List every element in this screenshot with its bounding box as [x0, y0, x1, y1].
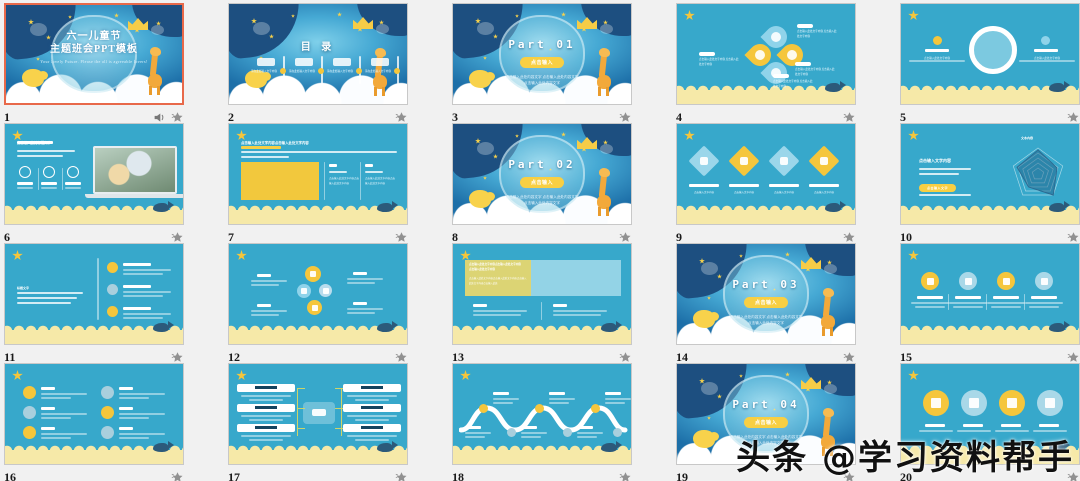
bubble-icon	[477, 142, 494, 155]
sand-strip	[453, 450, 631, 464]
diamond-sub: 点击输入文字内容	[809, 190, 839, 194]
diamond-sub: 点击输入文字内容	[689, 190, 719, 194]
left-body-line	[17, 292, 83, 294]
slide-thumbnail-7[interactable]: 点击输入此处文字内容点击输入此处文字内容点击输入此处文字内容点击输入此处文字内容…	[228, 123, 408, 225]
social-line	[347, 308, 383, 310]
star-animation-icon[interactable]	[843, 351, 856, 364]
part-description: 点击输入此处内容文字 点击输入此处内容文字 点击输入此处内容文字	[677, 314, 855, 326]
petal-body: 点击输入此处文字内容 点击输入此处文字内容	[795, 68, 835, 77]
body-line	[919, 194, 971, 196]
duck-icon	[22, 69, 44, 87]
slide-cell: 点击输入此处标题文字6	[4, 123, 184, 247]
laptop-photo	[93, 146, 177, 194]
col-body-line	[41, 433, 87, 435]
row-body-line	[915, 306, 945, 308]
row-body-line	[1025, 302, 1063, 304]
body-line	[919, 173, 959, 175]
slide-cell: 点击输入此处文字内容点击输入此处文字内容5	[900, 3, 1080, 127]
col-heading-bar	[41, 407, 55, 410]
slide-number: 19	[676, 470, 688, 481]
star-animation-icon[interactable]	[619, 471, 632, 481]
slide-thumbnail-4[interactable]: 点击输入此处文字内容 点击输入此处文字内容点击输入此处文字内容 点击输入此处文字…	[676, 3, 856, 105]
col-body-line	[41, 413, 87, 415]
social-line	[251, 280, 287, 282]
spoke-line	[347, 435, 397, 437]
slide-status-icons	[171, 231, 184, 244]
column-divider	[360, 162, 361, 200]
slide-number: 17	[228, 470, 240, 481]
wave-top-line	[549, 398, 575, 400]
col-line	[553, 310, 607, 312]
part-description: 点击输入此处内容文字 点击输入此处内容文字 点击输入此处内容文字	[453, 194, 631, 206]
item-sub-line	[41, 187, 57, 189]
speaker-icon[interactable]	[153, 111, 166, 124]
row-body-line	[987, 302, 1025, 304]
wave-top-line	[493, 402, 513, 404]
slide-sorter-pane[interactable]: 六一儿童节主题班会PPT模板Your lovely Future. Please…	[0, 0, 1080, 481]
slide-thumbnail-1[interactable]: 六一儿童节主题班会PPT模板Your lovely Future. Please…	[4, 3, 184, 105]
col-body-line	[119, 437, 149, 439]
heading-underline	[241, 146, 281, 149]
col-heading-bar	[119, 407, 133, 410]
sand-strip	[901, 90, 1079, 104]
slide-thumbnail-2[interactable]: 目 录请在此处输入文字内容请在此处输入文字内容请在此处输入文字内容请在此处输入文…	[228, 3, 408, 105]
big-icon-label-bar	[925, 424, 945, 427]
diamond-glyph	[820, 157, 828, 165]
diamond-label-bar	[809, 184, 839, 187]
spoke-heading-bar	[361, 426, 383, 429]
sand-strip	[5, 210, 183, 224]
list-heading-bar	[123, 263, 151, 266]
slide-meta: 16	[4, 467, 184, 481]
slide-status-icons	[1067, 231, 1080, 244]
petal-badge	[797, 24, 813, 28]
social-glyph	[310, 271, 316, 277]
slide-status-icons	[1067, 111, 1080, 124]
row-icon-glyph	[965, 278, 972, 285]
whale-icon	[601, 443, 617, 452]
slide-thumbnail-17[interactable]	[228, 363, 408, 465]
row-label-bar	[917, 296, 943, 299]
spoke-line	[355, 419, 389, 421]
col-circle	[101, 406, 114, 419]
left-body-line	[17, 297, 77, 299]
sand-strip	[5, 450, 183, 464]
col-line	[553, 314, 601, 316]
big-icon-line	[1033, 430, 1067, 432]
social-line	[347, 282, 375, 284]
body-line	[17, 150, 75, 152]
star-animation-icon[interactable]	[171, 351, 184, 364]
bubble-icon	[824, 384, 837, 394]
list-bullet	[107, 284, 118, 295]
whale-icon	[825, 203, 841, 212]
star-animation-icon[interactable]	[395, 231, 408, 244]
col-heading-bar	[553, 304, 567, 307]
radar-chart	[1005, 142, 1071, 204]
star-animation-icon[interactable]	[1067, 111, 1080, 124]
spoke-heading-bar	[255, 406, 277, 409]
wave-bottom-label	[465, 426, 481, 429]
slide-cell: 点击输入此处文字内容点击输入此处文字内容点击输入此处文字内容点击输入此处文字内容…	[228, 123, 408, 247]
social-glyph	[312, 305, 318, 311]
row-body-line	[1029, 306, 1059, 308]
slide-thumbnail-12[interactable]	[228, 243, 408, 345]
spoke-line	[355, 399, 389, 401]
slide-cell: 12	[228, 243, 408, 367]
slide-status-icons	[395, 111, 408, 124]
diamond-label-bar	[689, 184, 719, 187]
list-line	[123, 313, 171, 315]
spoke-line	[355, 439, 389, 441]
slide-cell: 17	[228, 363, 408, 481]
spoke-line	[249, 399, 283, 401]
wave-node	[535, 404, 544, 413]
slide-thumbnail-16[interactable]	[4, 363, 184, 465]
part-button: 点击输入	[520, 177, 564, 188]
wave-bottom-line	[521, 432, 547, 434]
list-line	[123, 291, 171, 293]
slide-status-icons	[395, 471, 408, 481]
bubble-icon	[701, 262, 718, 275]
bubble-icon	[600, 24, 613, 34]
big-icon-label-bar	[963, 424, 983, 427]
wave-top-label	[605, 392, 621, 395]
star-animation-icon[interactable]	[619, 231, 632, 244]
whale-icon	[1049, 323, 1065, 332]
body-line	[17, 155, 63, 157]
sand-strip	[677, 90, 855, 104]
slide-thumbnail-10[interactable]: 点击输入文字内容点击输入文字文本内容	[900, 123, 1080, 225]
col-circle	[23, 426, 36, 439]
sand-strip	[5, 330, 183, 344]
slide-status-icons	[843, 351, 856, 364]
col-circle	[23, 406, 36, 419]
wave-top-line	[605, 398, 631, 400]
item-label-bar	[65, 182, 81, 185]
left-body-line	[17, 302, 71, 304]
row-icon-glyph	[1041, 278, 1048, 285]
item-label-bar	[17, 182, 33, 185]
bubble-icon	[701, 382, 718, 395]
diamond-sub: 点击输入文字内容	[729, 190, 759, 194]
photo-classroom	[95, 148, 175, 192]
social-glyph	[323, 288, 329, 294]
slide-thumbnail-15[interactable]	[900, 243, 1080, 345]
left-heading-bar	[925, 49, 949, 52]
slide-status-icons	[395, 351, 408, 364]
big-icon-glyph	[969, 398, 979, 408]
whale-icon	[601, 323, 617, 332]
whale-icon	[825, 83, 841, 92]
wave-bottom-line	[577, 432, 603, 434]
slide-heading: 点击输入此处文字内容点击输入此处文字内容	[241, 140, 309, 145]
toc-title: 目 录	[229, 38, 407, 53]
sand-strip	[453, 330, 631, 344]
slide-status-icons	[843, 231, 856, 244]
bubble-icon	[253, 22, 270, 35]
social-line	[251, 310, 287, 312]
spoke-line	[347, 395, 397, 397]
col-heading-bar	[41, 387, 55, 390]
big-circle-outer	[969, 26, 1017, 74]
whale-icon	[377, 203, 393, 212]
social-line	[251, 284, 279, 286]
star-animation-icon[interactable]	[1067, 231, 1080, 244]
panel-body: 点击输入此处文字内容点击输入此处文字内容点击输入此处文字内容点击输入此处	[469, 277, 527, 286]
right-heading-bar	[1034, 49, 1058, 52]
wave-bottom-line	[521, 436, 541, 438]
spoke-connector	[297, 428, 305, 429]
part-block: Part 01点击输入点击输入此处内容文字 点击输入此处内容文字 点击输入此处内…	[453, 38, 631, 86]
social-label-bar	[257, 274, 271, 277]
row-icon-glyph	[927, 278, 934, 285]
slide-thumbnail-14[interactable]: Part 03点击输入点击输入此处内容文字 点击输入此处内容文字 点击输入此处内…	[676, 243, 856, 345]
part-block: Part 02点击输入点击输入此处内容文字 点击输入此处内容文字 点击输入此处内…	[453, 158, 631, 206]
cover-title-block: 六一儿童节主题班会PPT模板Your lovely Future. Please…	[6, 31, 182, 64]
sand-strip	[229, 450, 407, 464]
star-animation-icon[interactable]	[1067, 351, 1080, 364]
col-heading-bar	[473, 304, 487, 307]
wave-bottom-label	[521, 426, 537, 429]
whale-icon	[1049, 203, 1065, 212]
slide-cell: 六一儿童节主题班会PPT模板Your lovely Future. Please…	[4, 3, 184, 127]
column-heading-bar	[329, 164, 337, 167]
item-circle	[67, 166, 79, 178]
slide-number: 18	[452, 470, 464, 481]
slide-cell: 点击输入文字内容点击输入文字文本内容10	[900, 123, 1080, 247]
wave-top-label	[549, 392, 565, 395]
row-body-line	[911, 302, 949, 304]
diamond-sub: 点击输入文字内容	[769, 190, 799, 194]
social-line	[347, 312, 375, 314]
col-heading-bar	[119, 427, 133, 430]
wave-top-label	[493, 392, 509, 395]
col-line	[473, 314, 521, 316]
column-sub-line	[365, 171, 383, 173]
body-line	[919, 168, 971, 170]
toc-icon-badge	[257, 58, 275, 66]
social-label-bar	[353, 272, 367, 275]
panel-heading: 点击输入此处文字内容点击输入此处文字内容 点击输入此处文字内容	[469, 263, 527, 272]
bubble-icon	[824, 264, 837, 274]
item-circle	[19, 166, 31, 178]
col-body-line	[41, 397, 71, 399]
part-label: Part 02	[453, 158, 631, 171]
col-heading-bar	[119, 387, 133, 390]
col-body-line	[119, 393, 165, 395]
diamond-label-bar	[769, 184, 799, 187]
slide-thumbnail-18[interactable]	[452, 363, 632, 465]
list-line	[123, 269, 171, 271]
toc-icon-badge	[333, 58, 351, 66]
slide-number: 16	[4, 470, 16, 481]
big-icon-line	[995, 430, 1029, 432]
col-body-line	[119, 397, 149, 399]
whale-icon	[1049, 83, 1065, 92]
laptop-base	[85, 194, 184, 198]
item-divider	[62, 168, 63, 190]
whale-icon	[153, 323, 169, 332]
spoke-line	[241, 435, 291, 437]
spoke-line	[347, 415, 397, 417]
cover-title-line1: 六一儿童节	[6, 31, 182, 44]
left-heading: 标题文字	[17, 286, 29, 290]
toc-item-label: 请在此处输入文字内容	[251, 70, 283, 74]
petal-body: 点击输入此处文字内容 点击输入此处文字内容	[699, 58, 739, 67]
star-animation-icon[interactable]	[395, 111, 408, 124]
star-animation-icon[interactable]	[395, 351, 408, 364]
part-block: Part 03点击输入点击输入此处内容文字 点击输入此处内容文字 点击输入此处内…	[677, 278, 855, 326]
star-animation-icon[interactable]	[619, 351, 632, 364]
col-circle	[101, 426, 114, 439]
slide-status-icons	[619, 231, 632, 244]
list-line	[123, 317, 163, 319]
star-animation-icon[interactable]	[171, 231, 184, 244]
slide-cell: Part 03点击输入点击输入此处内容文字 点击输入此处内容文字 点击输入此处内…	[676, 243, 856, 367]
vertical-divider	[97, 258, 99, 320]
yellow-content-box	[241, 162, 319, 200]
col-divider	[541, 302, 542, 320]
wave-node	[563, 428, 572, 437]
big-icon-line	[957, 430, 991, 432]
slide-status-icons	[619, 471, 632, 481]
row-label-bar	[1031, 296, 1057, 299]
petal-badge	[795, 62, 811, 66]
big-icon-label-bar	[1001, 424, 1021, 427]
wave-top-line	[493, 398, 519, 400]
slide-meta: 17	[228, 467, 408, 481]
spoke-line	[241, 415, 291, 417]
big-icon-label-bar	[1039, 424, 1059, 427]
whale-icon	[153, 443, 169, 452]
toc-item-label: 请在此处输入文字内容	[327, 70, 359, 74]
list-heading-bar	[123, 285, 151, 288]
whale-icon	[377, 443, 393, 452]
spoke-line	[249, 419, 283, 421]
spoke-heading-bar	[361, 406, 383, 409]
col-body-line	[41, 417, 71, 419]
part-label: Part 01	[453, 38, 631, 51]
toc-icon-badge	[295, 58, 313, 66]
hub-vertical-line	[341, 388, 342, 436]
wave-top-line	[549, 402, 569, 404]
whale-icon	[153, 203, 169, 212]
body-line	[241, 151, 397, 153]
social-label-bar	[257, 304, 271, 307]
row-label-bar	[955, 296, 981, 299]
list-bullet	[107, 306, 118, 317]
slide-thumbnail-13[interactable]: 点击输入此处文字内容点击输入此处文字内容 点击输入此处文字内容点击输入此处文字内…	[452, 243, 632, 345]
col-body-line	[119, 417, 149, 419]
big-icon-line	[919, 430, 953, 432]
slide-status-icons	[843, 111, 856, 124]
sand-strip	[229, 330, 407, 344]
column-body: 点击输入此处文字内容点击输入此处文字内容	[329, 177, 361, 187]
wave-top-line	[605, 402, 625, 404]
part-label: Part 03	[677, 278, 855, 291]
slide-thumbnail-3[interactable]: Part 01点击输入点击输入此处内容文字 点击输入此处内容文字 点击输入此处内…	[452, 3, 632, 105]
row-body-line	[991, 306, 1021, 308]
row-icon-glyph	[1003, 278, 1010, 285]
col-heading-bar	[41, 427, 55, 430]
whale-icon	[377, 323, 393, 332]
col-body-line	[41, 437, 71, 439]
part-button: 点击输入	[744, 417, 788, 428]
connector-line	[909, 60, 965, 62]
hub-glyph	[312, 409, 326, 416]
slide-meta: 18	[452, 467, 632, 481]
sand-strip	[901, 210, 1079, 224]
wave-bottom-label	[577, 426, 593, 429]
petal-badge	[773, 74, 789, 78]
star-animation-icon[interactable]	[843, 111, 856, 124]
col-line	[473, 310, 527, 312]
star-animation-icon[interactable]	[395, 471, 408, 481]
slide-status-icons	[619, 111, 632, 124]
slide-thumbnail-5[interactable]: 点击输入此处文字内容点击输入此处文字内容	[900, 3, 1080, 105]
toc-icon-badge	[371, 58, 389, 66]
slide-thumbnail-6[interactable]: 点击输入此处标题文字	[4, 123, 184, 225]
star-animation-icon[interactable]	[171, 471, 184, 481]
toc-item-label: 请在此处输入文字内容	[365, 70, 397, 74]
social-glyph	[301, 288, 307, 294]
slide-thumbnail-11[interactable]: 标题文字	[4, 243, 184, 345]
slide-status-icons	[619, 351, 632, 364]
slide-cell: 15	[900, 243, 1080, 367]
wave-node	[507, 428, 516, 437]
slide-status-icons	[171, 351, 184, 364]
spoke-heading-bar	[255, 386, 277, 389]
social-line	[347, 278, 383, 280]
column-body: 点击输入此处文字内容点击输入此处文字内容	[365, 177, 397, 187]
item-sub-line	[65, 187, 81, 189]
col-body-line	[119, 413, 165, 415]
cover-title-line2: 主题班会PPT模板	[6, 44, 182, 57]
row-label-bar	[993, 296, 1019, 299]
slide-cell: 点击输入文字内容点击输入文字内容点击输入文字内容点击输入文字内容9	[676, 123, 856, 247]
row-body-line	[953, 306, 983, 308]
body-line	[241, 156, 289, 158]
spoke-line	[241, 395, 291, 397]
sand-strip	[229, 210, 407, 224]
slide-thumbnail-9[interactable]: 点击输入文字内容点击输入文字内容点击输入文字内容点击输入文字内容	[676, 123, 856, 225]
col-body-line	[41, 393, 87, 395]
left-marker	[933, 36, 942, 45]
star-animation-icon[interactable]	[171, 111, 184, 124]
bubble-icon	[600, 144, 613, 154]
item-label-bar	[41, 182, 57, 185]
bubble-icon	[376, 24, 389, 34]
column-divider	[324, 162, 325, 200]
star-animation-icon[interactable]	[619, 111, 632, 124]
petal-body: 点击输入此处文字内容 点击输入此处文字内容	[797, 30, 837, 39]
row-body-line	[949, 302, 987, 304]
bubble-icon	[477, 22, 494, 35]
petal-inner	[771, 32, 781, 42]
slide-heading: 点击输入此处标题文字	[17, 140, 51, 145]
slide-cell: Part 02点击输入点击输入此处内容文字 点击输入此处内容文字 点击输入此处内…	[452, 123, 632, 247]
slide-thumbnail-8[interactable]: Part 02点击输入点击输入此处内容文字 点击输入此处内容文字 点击输入此处内…	[452, 123, 632, 225]
star-animation-icon[interactable]	[843, 231, 856, 244]
spoke-heading-bar	[255, 426, 277, 429]
radar-heading: 点击输入文字内容	[919, 158, 951, 164]
part-button: 点击输入	[520, 57, 564, 68]
spoke-connector	[297, 388, 305, 389]
petal-body: 点击输入此处文字内容 点击输入此处文字内容	[773, 80, 813, 89]
big-icon-glyph	[931, 398, 941, 408]
list-line	[123, 295, 163, 297]
